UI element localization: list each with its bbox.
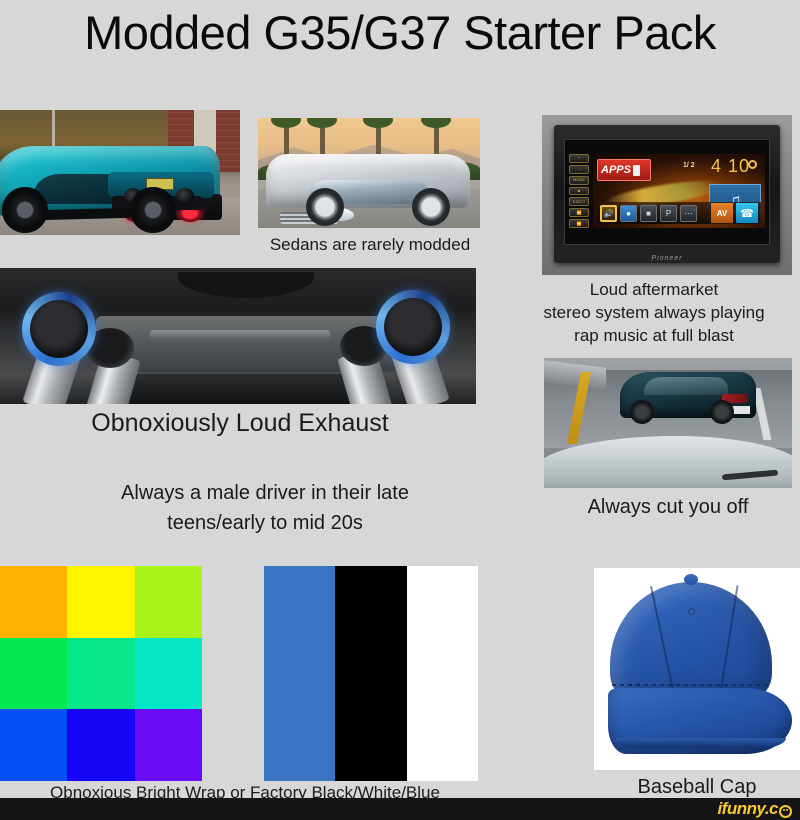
sedan-rear-wheel xyxy=(412,188,450,226)
stereo-button-volume-down[interactable]: – xyxy=(569,165,589,174)
teal-modded-g35-coupe-photo xyxy=(0,110,240,235)
caption-sedans-rarely-modded: Sedans are rarely modded xyxy=(240,233,500,256)
stereo-av-button[interactable]: AV xyxy=(711,203,733,223)
stereo-button-mode[interactable]: MODE xyxy=(569,176,589,185)
stripe-black xyxy=(335,566,406,781)
caption-stereo-line1: Loud aftermarket xyxy=(508,278,800,301)
stripe-blue xyxy=(264,566,335,781)
stereo-unit-body: + – MODE ■ EJECT ⏪ ⏩ APPS 1/ 2 4 10 xyxy=(554,125,780,263)
stereo-clock: 4 10 xyxy=(711,156,750,177)
caption-always-cut-you-off: Always cut you off xyxy=(544,492,792,522)
bright-wrap-color-grid xyxy=(0,566,202,781)
stereo-touchscreen[interactable]: APPS 1/ 2 4 10 ♫ HD Radio 🔊 ● ■ P xyxy=(593,154,765,228)
cap-stitch-band xyxy=(612,684,770,686)
exhaust-tip-bore xyxy=(30,300,88,358)
stereo-apps-tile[interactable]: APPS xyxy=(597,159,651,181)
silver-g35-sedan-photo xyxy=(258,118,480,228)
wrap-swatch-springgreen xyxy=(67,638,134,710)
stereo-button-volume-up[interactable]: + xyxy=(569,154,589,163)
stereo-page-indicator: 1/ 2 xyxy=(683,162,695,169)
watermark-text: ifunny.c xyxy=(717,799,778,819)
more-icon[interactable]: ⋯ xyxy=(680,205,697,222)
wrap-swatch-green xyxy=(0,638,67,710)
exhaust-outer-tip-right xyxy=(376,290,450,364)
stereo-dock-bar[interactable]: 🔊 ● ■ P ⋯ AV ☎ xyxy=(597,202,761,224)
stereo-button-eject[interactable]: EJECT xyxy=(569,197,589,206)
coupe-rear-wheel xyxy=(130,187,176,233)
wrap-swatch-violet xyxy=(135,709,202,781)
wrap-swatch-cyan xyxy=(135,638,202,710)
stereo-faceplate: + – MODE ■ EJECT ⏪ ⏩ APPS 1/ 2 4 10 xyxy=(564,139,770,245)
battery-icon[interactable]: ■ xyxy=(640,205,657,222)
dashcam-cutoff-photo xyxy=(544,358,792,488)
speaker-icon[interactable]: 🔊 xyxy=(600,205,617,222)
cap-eyelet xyxy=(688,608,695,615)
stereo-button-stop[interactable]: ■ xyxy=(569,187,589,196)
caption-stereo-line2: stereo system always playing xyxy=(508,301,800,324)
cap-top-button xyxy=(684,574,698,585)
stereo-brand-label: Pioneer xyxy=(554,255,780,262)
parking-icon[interactable]: P xyxy=(660,205,677,222)
cap-crown xyxy=(610,582,772,698)
caption-driver: Always a male driver in their late teens… xyxy=(45,478,485,538)
stereo-button-prev-track[interactable]: ⏪ xyxy=(569,208,589,217)
stereo-left-button-column[interactable]: + – MODE ■ EJECT ⏪ ⏩ xyxy=(569,154,589,228)
dashcam-cutting-car xyxy=(620,372,756,418)
page-title: Modded G35/G37 Starter Pack xyxy=(0,2,800,64)
bottom-bar: ifunny.c xyxy=(0,798,800,820)
exhaust-floor-rib xyxy=(150,330,330,339)
ifunny-watermark[interactable]: ifunny.c xyxy=(717,799,792,819)
smiley-face-icon xyxy=(779,805,792,818)
dashcam-car-front-wheel xyxy=(630,400,654,424)
exhaust-tip-bore xyxy=(384,298,442,356)
phone-icon xyxy=(633,165,640,176)
caption-stereo: Loud aftermarket stereo system always pl… xyxy=(508,278,800,347)
wrap-swatch-orange xyxy=(0,566,67,638)
sedan-front-wheel xyxy=(306,188,344,226)
wrap-swatch-lime xyxy=(135,566,202,638)
stereo-apps-label: APPS xyxy=(601,164,631,176)
dashcam-car-rear-wheel xyxy=(710,400,734,424)
stereo-button-next-track[interactable]: ⏩ xyxy=(569,219,589,228)
caption-driver-line1: Always a male driver in their late xyxy=(45,478,485,508)
wrap-swatch-deepblue xyxy=(67,709,134,781)
coupe-exhaust-tip-right xyxy=(176,188,194,204)
dual-exhaust-tips-photo xyxy=(0,268,476,404)
dashcam-car-glass xyxy=(644,377,728,395)
coupe-front-wheel xyxy=(2,187,48,233)
exhaust-lower-shadow xyxy=(130,374,350,404)
caption-obnoxiously-loud-exhaust: Obnoxiously Loud Exhaust xyxy=(30,408,450,439)
factory-color-stripes xyxy=(264,566,478,781)
cap-brim-edge xyxy=(616,738,786,748)
pioneer-head-unit-photo: + – MODE ■ EJECT ⏪ ⏩ APPS 1/ 2 4 10 xyxy=(542,115,792,275)
caption-driver-line2: teens/early to mid 20s xyxy=(45,508,485,538)
blue-baseball-cap-photo xyxy=(594,568,800,770)
meme-canvas: Modded G35/G37 Starter Pack xyxy=(0,0,800,820)
caption-stereo-line3: rap music at full blast xyxy=(508,324,800,347)
exhaust-outer-tip-left xyxy=(22,292,96,366)
clock-icon[interactable]: ● xyxy=(620,205,637,222)
wrap-swatch-blue xyxy=(0,709,67,781)
wrap-swatch-yellow xyxy=(67,566,134,638)
stripe-white xyxy=(407,566,478,781)
gear-icon[interactable] xyxy=(748,160,757,169)
phone-call-icon[interactable]: ☎ xyxy=(736,203,758,223)
